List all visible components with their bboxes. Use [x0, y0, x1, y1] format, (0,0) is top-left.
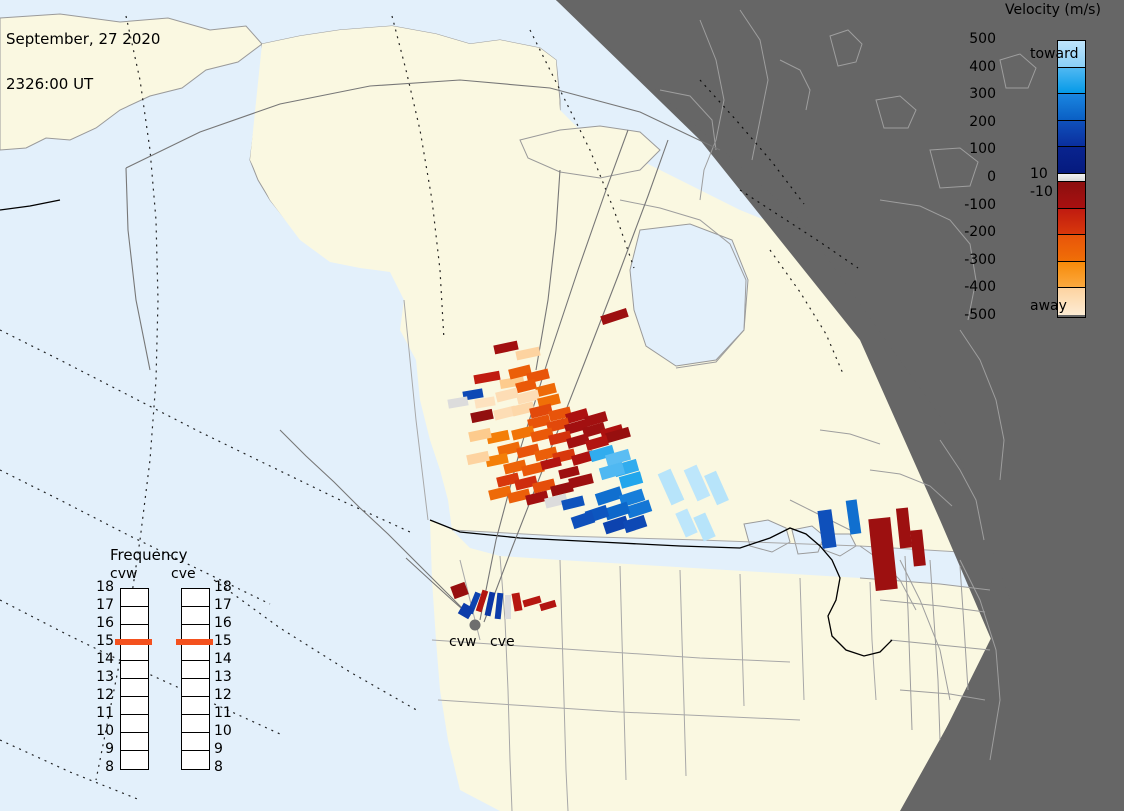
frequency-cell — [182, 733, 209, 751]
colorbar-gradient-box — [1057, 40, 1086, 318]
colorbar-tick-label: -500 — [964, 307, 996, 323]
colorbar-band — [1058, 68, 1085, 95]
colorbar-band — [1058, 174, 1085, 182]
frequency-cell — [121, 751, 148, 769]
frequency-cell — [121, 679, 148, 697]
colorbar-tick-label: 200 — [969, 114, 996, 130]
frequency-cell — [182, 661, 209, 679]
colorbar-positive-10-label: 10 — [1030, 166, 1048, 182]
frequency-tick-label: 12 — [214, 687, 232, 703]
colorbar-title: Velocity (m/s) — [1005, 2, 1124, 18]
colorbar-tick-label: 300 — [969, 86, 996, 102]
colorbar-band — [1058, 94, 1085, 121]
timestamp-block: September, 27 2020 2326:00 UT — [6, 2, 160, 122]
frequency-cell — [182, 697, 209, 715]
frequency-tick-label: 11 — [92, 705, 114, 721]
colorbar-tick-label: -100 — [964, 197, 996, 213]
frequency-legend: Frequency cvw cve 18171615141312111098 1… — [86, 546, 251, 778]
frequency-tick-label: 15 — [214, 633, 232, 649]
frequency-tick-label: 18 — [92, 579, 114, 595]
radar-site-marker — [470, 620, 481, 631]
colorbar-tick-label: -400 — [964, 279, 996, 295]
velocity-colorbar: Velocity (m/s) 5004003002001000-100-200-… — [1000, 2, 1124, 332]
frequency-cell — [121, 661, 148, 679]
colorbar-band — [1058, 147, 1085, 174]
frequency-tick-label: 9 — [214, 741, 223, 757]
frequency-cell — [121, 643, 148, 661]
frequency-cell — [182, 715, 209, 733]
frequency-cell — [182, 679, 209, 697]
timestamp-time: 2326:00 UT — [6, 77, 160, 92]
frequency-tick-label: 17 — [92, 597, 114, 613]
colorbar-tick-label: 0 — [987, 169, 996, 185]
frequency-tick-label: 10 — [92, 723, 114, 739]
frequency-tick-label: 15 — [92, 633, 114, 649]
frequency-cell — [121, 589, 148, 607]
frequency-tick-label: 10 — [214, 723, 232, 739]
frequency-bar-cvw — [120, 588, 149, 770]
frequency-tick-label: 18 — [214, 579, 232, 595]
frequency-cell — [121, 715, 148, 733]
frequency-tick-label: 8 — [92, 759, 114, 775]
frequency-tick-label: 13 — [92, 669, 114, 685]
frequency-cell — [121, 607, 148, 625]
colorbar-tick-label: -200 — [964, 224, 996, 240]
frequency-legend-title: Frequency — [110, 546, 188, 564]
frequency-cell — [182, 643, 209, 661]
frequency-tick-label: 14 — [214, 651, 232, 667]
frequency-tick-label: 12 — [92, 687, 114, 703]
frequency-tick-label: 9 — [92, 741, 114, 757]
frequency-marker-cvw — [115, 639, 152, 645]
colorbar-tick-label: 500 — [969, 31, 996, 47]
colorbar-band — [1058, 209, 1085, 236]
superdarn-velocity-map: cvw cve September, 27 2020 2326:00 UT Ve… — [0, 0, 1124, 811]
frequency-cell — [182, 607, 209, 625]
frequency-cell — [182, 751, 209, 769]
colorbar-away-label: away — [1030, 298, 1067, 314]
frequency-tick-label: 8 — [214, 759, 223, 775]
frequency-bar-cve — [181, 588, 210, 770]
frequency-tick-label: 16 — [214, 615, 232, 631]
colorbar-band — [1058, 235, 1085, 262]
colorbar-tick-label: 400 — [969, 59, 996, 75]
frequency-cell — [121, 733, 148, 751]
frequency-cell — [121, 697, 148, 715]
colorbar-band — [1058, 182, 1085, 209]
frequency-tick-label: 17 — [214, 597, 232, 613]
frequency-column-label-cve: cve — [171, 566, 196, 582]
colorbar-band — [1058, 262, 1085, 289]
colorbar-tick-label: 100 — [969, 141, 996, 157]
frequency-tick-label: 16 — [92, 615, 114, 631]
colorbar-toward-label: toward — [1030, 46, 1078, 62]
frequency-tick-label: 14 — [92, 651, 114, 667]
frequency-column-label-cvw: cvw — [110, 566, 137, 582]
frequency-marker-cve — [176, 639, 213, 645]
timestamp-date: September, 27 2020 — [6, 32, 160, 47]
frequency-cell — [182, 589, 209, 607]
colorbar-band — [1058, 121, 1085, 148]
frequency-tick-label: 11 — [214, 705, 232, 721]
colorbar-negative-10-label: -10 — [1030, 184, 1053, 200]
colorbar-tick-label: -300 — [964, 252, 996, 268]
frequency-tick-label: 13 — [214, 669, 232, 685]
